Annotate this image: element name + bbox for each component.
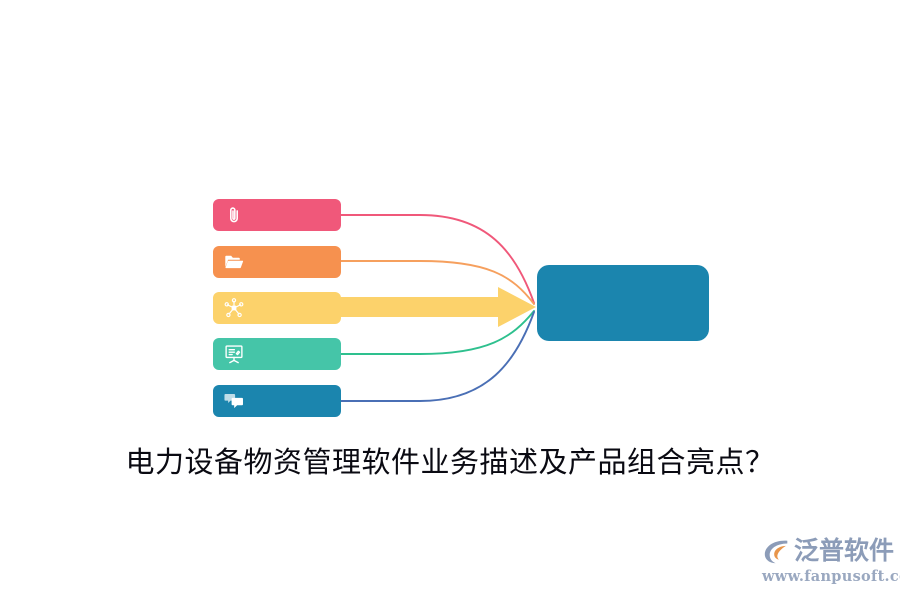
watermark-logo: 泛普软件 www.fanpusoft.com [762,534,896,592]
watermark-url: www.fanpusoft.com [762,568,896,586]
node-bar-paperclip[interactable] [213,199,341,231]
node-bar-folder[interactable] [213,246,341,278]
paperclip-icon [223,204,245,226]
fanpu-logo-mark [762,536,792,566]
watermark-brand-name: 泛普软件 [794,536,894,566]
chat-bubbles-icon [223,390,245,412]
network-hub-icon [223,297,245,319]
node-bar-network[interactable] [213,292,341,324]
page-title: 电力设备物资管理软件业务描述及产品组合亮点？ [0,440,900,484]
open-folder-icon [223,251,245,273]
connector-line-1 [341,215,534,303]
target-box[interactable] [537,265,709,341]
connector-arrow-3 [341,287,536,327]
connector-lines [0,0,900,600]
node-bar-chat[interactable] [213,385,341,417]
slide-canvas: 电力设备物资管理软件业务描述及产品组合亮点？ 泛普软件 www.fanpusof… [0,0,900,600]
watermark-brand-row: 泛普软件 [762,534,896,568]
presentation-board-icon [223,343,245,365]
convergence-diagram [0,0,900,600]
connector-line-5 [341,312,534,401]
node-bar-presentation[interactable] [213,338,341,370]
